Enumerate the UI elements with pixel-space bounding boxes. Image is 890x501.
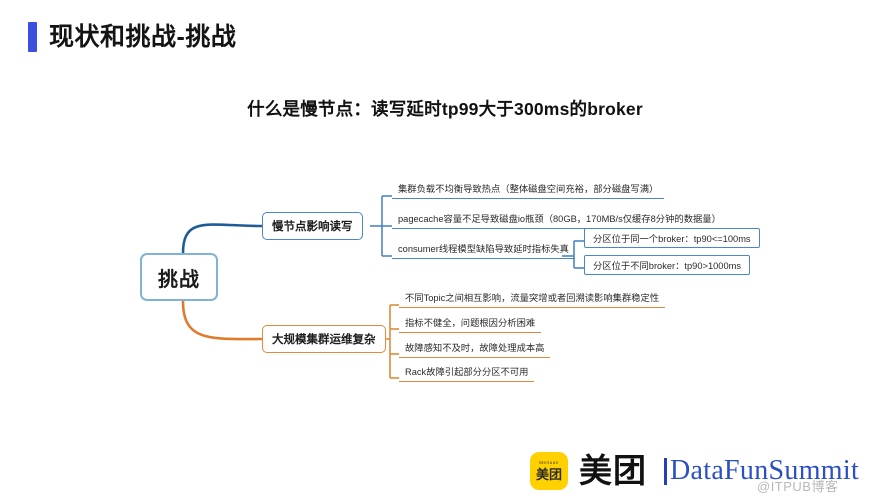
connector-root-to-blue-branch <box>183 225 262 253</box>
mindmap-root-node[interactable]: 挑战 <box>140 253 218 301</box>
mindmap-root-label: 挑战 <box>158 263 200 292</box>
mindmap-branch-slow-node[interactable]: 慢节点影响读写 <box>262 212 363 240</box>
mindmap: 挑战 慢节点影响读写 大规模集群运维复杂 集群负载不均衡导致热点（整体磁盘空间充… <box>0 0 890 501</box>
mindmap-branch-ops-complexity-label: 大规模集群运维复杂 <box>272 331 376 347</box>
slide: 现状和挑战-挑战 什么是慢节点：读写延时tp99大于300ms的broker <box>0 0 890 501</box>
leaf-blue-1[interactable]: 集群负载不均衡导致热点（整体磁盘空间充裕，部分磁盘写满） <box>392 183 664 199</box>
datafunsummit-bar-icon <box>664 458 667 485</box>
meituan-logo-icon: Meituan 美团 <box>530 452 568 490</box>
mindmap-branch-ops-complexity[interactable]: 大规模集群运维复杂 <box>262 325 386 353</box>
meituan-logo-latin: Meituan <box>539 461 559 466</box>
watermark: @ITPUB博客 <box>757 476 838 495</box>
leaf-orange-2[interactable]: 指标不健全，问题根因分析困难 <box>399 317 541 333</box>
leaf-orange-1[interactable]: 不同Topic之间相互影响，流量突增或者回溯读影响集群稳定性 <box>399 292 665 308</box>
leaf-orange-4[interactable]: Rack故障引起部分分区不可用 <box>399 366 534 382</box>
mindmap-branch-slow-node-label: 慢节点影响读写 <box>272 218 353 234</box>
leaf-blue-3[interactable]: consumer线程模型缺陷导致延时指标失真 <box>392 243 575 259</box>
meituan-wordmark: 美团 <box>579 452 647 490</box>
leaf-blue-3-child-1[interactable]: 分区位于同一个broker：tp90<=100ms <box>584 228 760 248</box>
leaf-blue-3-child-2[interactable]: 分区位于不同broker：tp90>1000ms <box>584 255 750 275</box>
connector-root-to-orange-branch <box>183 301 262 339</box>
meituan-logo-cn: 美团 <box>536 468 562 481</box>
leaf-orange-3[interactable]: 故障感知不及时，故障处理成本高 <box>399 342 550 358</box>
leaf-blue-2[interactable]: pagecache容量不足导致磁盘io瓶颈（80GB，170MB/s仅缓存8分钟… <box>392 213 727 229</box>
